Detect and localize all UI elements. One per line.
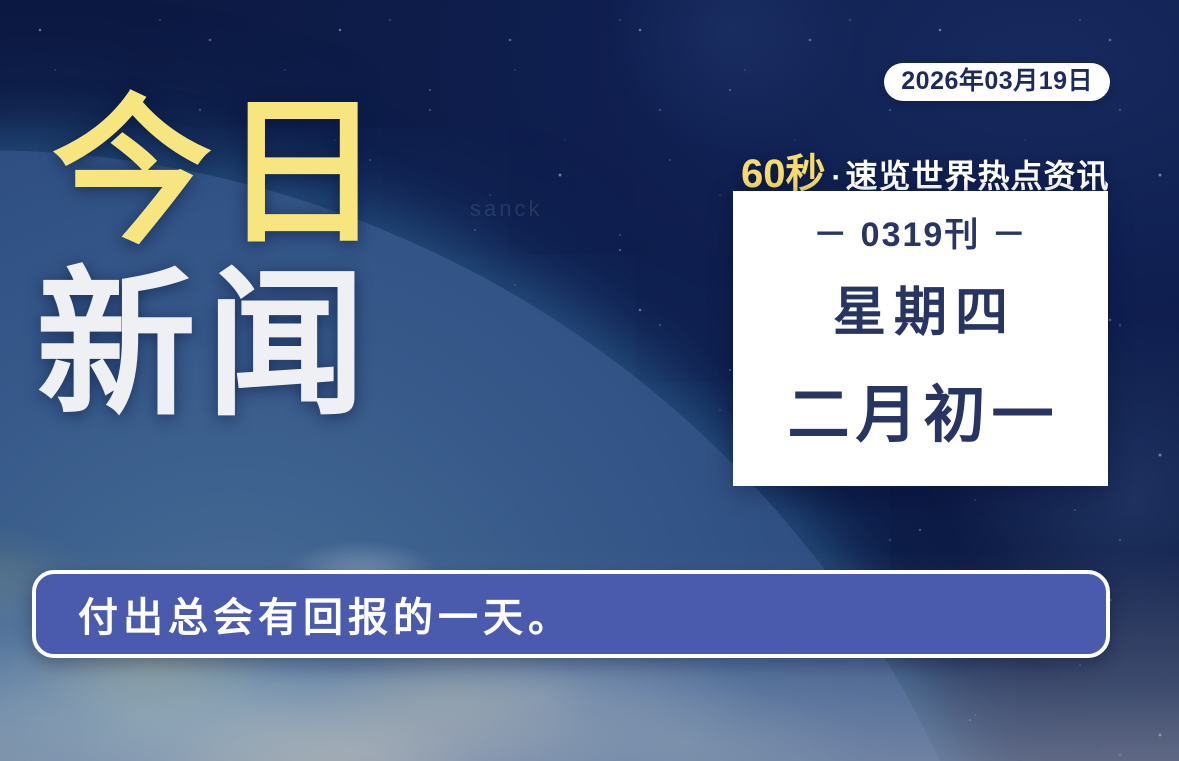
issue-number: － 0319刊 －	[813, 207, 1028, 256]
title-line-jinri: 今日	[52, 96, 392, 250]
quote-banner: 付出总会有回报的一天。	[32, 570, 1110, 658]
lunar-date: 二月初一	[781, 364, 1059, 454]
tagline-separator: ·	[832, 161, 842, 195]
date-badge: 2026年03月19日	[884, 63, 1110, 101]
news-poster: sanck 今日 新闻 2026年03月19日 60秒 · 速览世界热点资讯 －…	[0, 0, 1179, 761]
poster-title: 今日 新闻	[52, 96, 392, 421]
watermark-text: sanck	[470, 196, 542, 222]
title-line-xinwen: 新闻	[36, 268, 392, 422]
issue-card: － 0319刊 － 星期四 二月初一	[733, 191, 1108, 486]
quote-text: 付出总会有回报的一天。	[78, 585, 573, 643]
weekday: 星期四	[825, 270, 1016, 346]
